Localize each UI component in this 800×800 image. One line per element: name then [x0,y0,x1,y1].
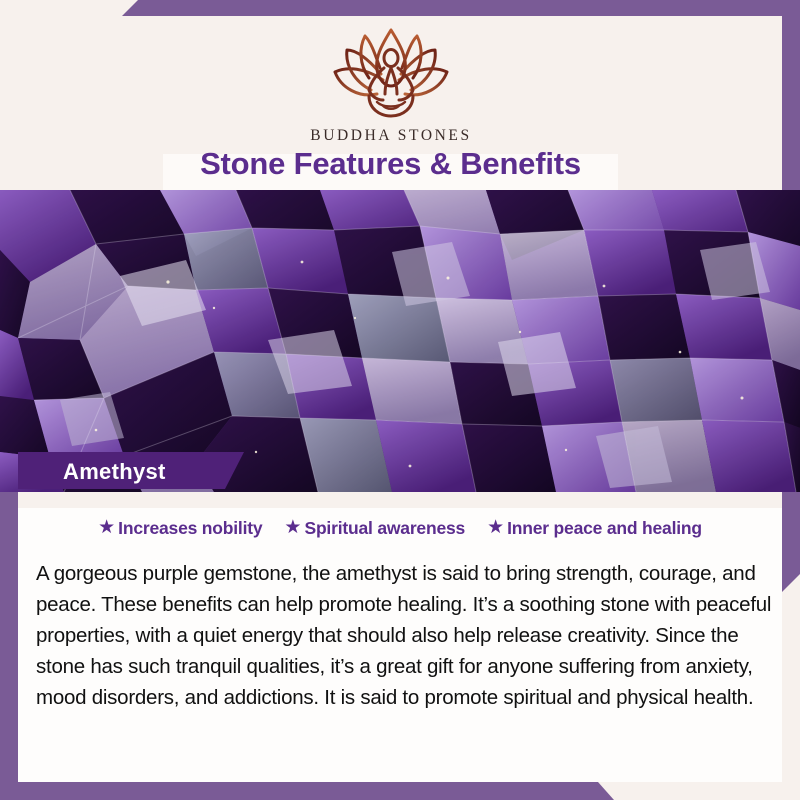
benefit-label: Spiritual awareness [304,518,465,539]
benefit-label: Inner peace and healing [507,518,702,539]
left-accent-strip [0,492,18,782]
content-divider [18,492,782,508]
page-title: Stone Features & Benefits [163,141,618,187]
amethyst-crystal-cluster-photo [0,190,800,492]
benefit-item: ★ Increases nobility [98,518,262,539]
stone-name: Amethyst [63,459,166,485]
star-icon: ★ [487,518,504,537]
brand-logo-block: BUDDHA STONES [0,28,782,145]
star-icon: ★ [98,518,115,537]
top-accent-band [0,0,800,16]
benefit-label: Increases nobility [118,518,262,539]
bottom-accent-band [0,782,800,800]
lotus-meditation-logo-icon [325,28,457,120]
stone-description: A gorgeous purple gemstone, the amethyst… [36,558,788,713]
benefits-list: ★ Increases nobility ★ Spiritual awarene… [18,518,782,539]
stone-benefits-infographic: BUDDHA STONES Stone Features & Benefits [0,0,800,800]
benefit-item: ★ Inner peace and healing [487,518,702,539]
benefit-item: ★ Spiritual awareness [284,518,465,539]
star-icon: ★ [284,518,301,537]
